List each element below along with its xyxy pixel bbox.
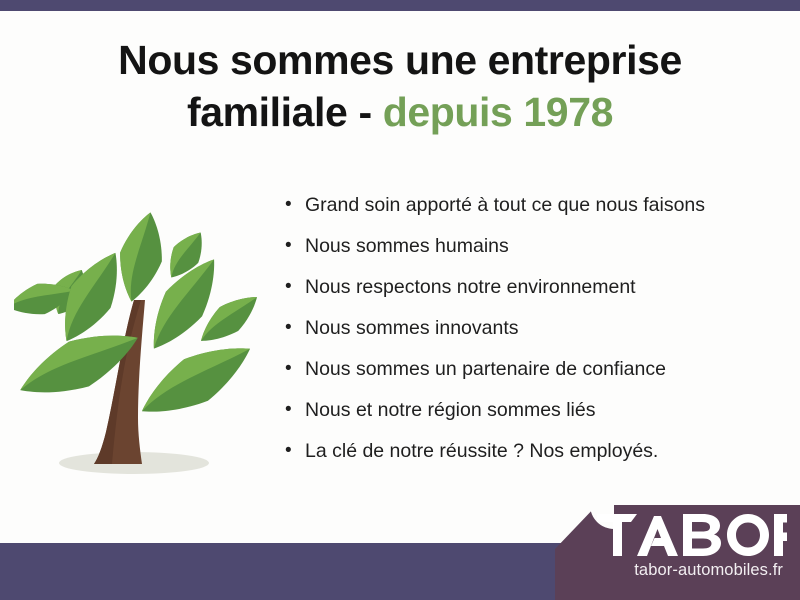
list-item: • Nous sommes humains <box>285 231 785 272</box>
list-item: • La clé de notre réussite ? Nos employé… <box>285 436 785 477</box>
bullet-point-icon: • <box>285 190 305 220</box>
leaf-lower-right-large <box>130 328 262 432</box>
title-line-1: Nous sommes une entreprise <box>0 34 800 86</box>
value-bullet-list: • Grand soin apporté à tout ce que nous … <box>285 190 785 477</box>
title-line-2: familiale - depuis 1978 <box>0 86 800 138</box>
list-item-label: La clé de notre réussite ? Nos employés. <box>305 436 658 466</box>
family-tree-illustration <box>14 192 269 487</box>
list-item-label: Nous et notre région sommes liés <box>305 395 595 425</box>
bullet-point-icon: • <box>285 231 305 261</box>
bullet-point-icon: • <box>285 272 305 302</box>
top-accent-band <box>0 0 800 11</box>
bullet-point-icon: • <box>285 313 305 343</box>
list-item: • Nous sommes innovants <box>285 313 785 354</box>
slide-canvas: Nous sommes une entreprise familiale - d… <box>0 0 800 600</box>
list-item: • Nous sommes un partenaire de confiance <box>285 354 785 395</box>
title-line-2-plain: familiale - <box>187 89 383 135</box>
logo-website-url: tabor-automobiles.fr <box>555 561 793 580</box>
bullet-point-icon: • <box>285 436 305 466</box>
list-item: • Grand soin apporté à tout ce que nous … <box>285 190 785 231</box>
list-item: • Nous et notre région sommes liés <box>285 395 785 436</box>
list-item-label: Grand soin apporté à tout ce que nous fa… <box>305 190 705 220</box>
tabor-logo-wordmark <box>597 514 787 556</box>
list-item: • Nous respectons notre environnement <box>285 272 785 313</box>
list-item-label: Nous sommes humains <box>305 231 509 261</box>
list-item-label: Nous sommes un partenaire de confiance <box>305 354 666 384</box>
list-item-label: Nous sommes innovants <box>305 313 519 343</box>
list-item-label: Nous respectons notre environnement <box>305 272 636 302</box>
slide-title: Nous sommes une entreprise familiale - d… <box>0 34 800 139</box>
leaf-top-center <box>111 208 172 306</box>
bullet-point-icon: • <box>285 395 305 425</box>
title-line-2-accent: depuis 1978 <box>383 89 613 135</box>
bullet-point-icon: • <box>285 354 305 384</box>
